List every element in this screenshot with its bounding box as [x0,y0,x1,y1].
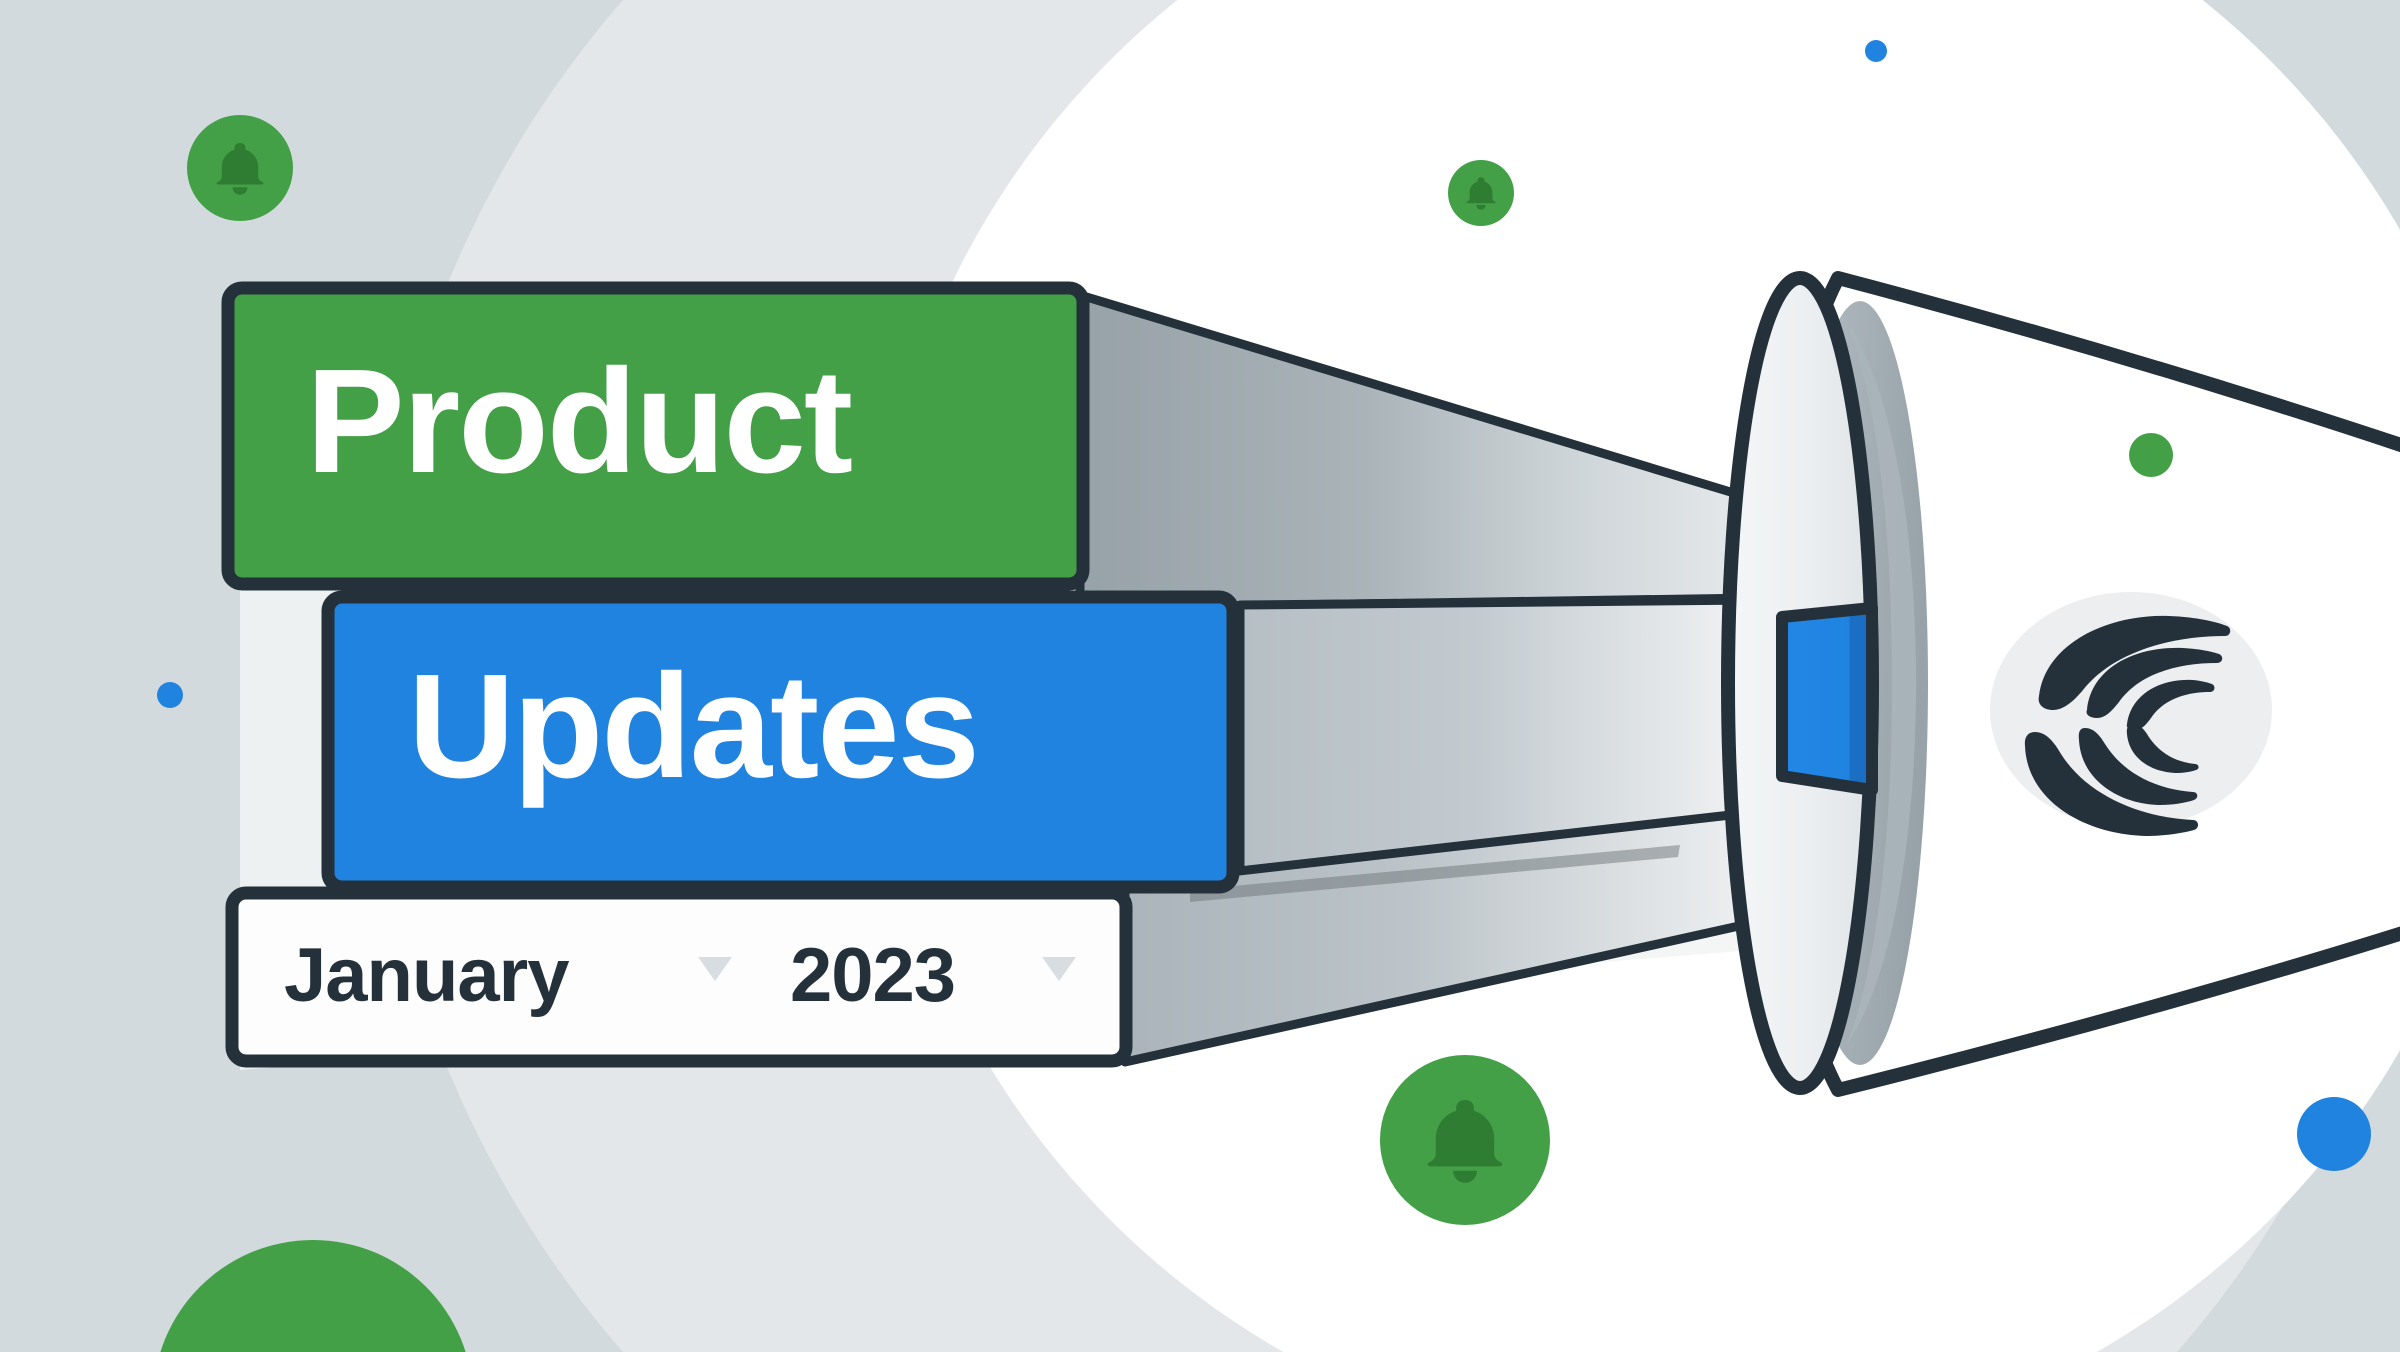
hero-banner: Product Updates January 2023 [0,0,2400,1352]
bell-icon-top-left [187,115,293,221]
month-select-value[interactable]: January [284,938,569,1014]
year-select-value[interactable]: 2023 [790,938,955,1014]
banner-line-product: Product [306,348,851,496]
dot-blue-small-top [1865,40,1887,62]
dot-green-on-cone [2129,433,2173,477]
dot-blue-small-left [157,682,183,708]
banner-line-updates: Updates [408,653,978,801]
bell-icon-top-middle [1448,160,1514,226]
dot-blue-large-right [2297,1097,2371,1171]
megaphone-blue-patch [1782,608,1872,790]
bell-icon-bottom-mid [1380,1055,1550,1225]
chevron-down-icon-year[interactable] [1042,957,1076,981]
illustration-canvas [0,0,2400,1352]
chevron-down-icon-month[interactable] [698,957,732,981]
